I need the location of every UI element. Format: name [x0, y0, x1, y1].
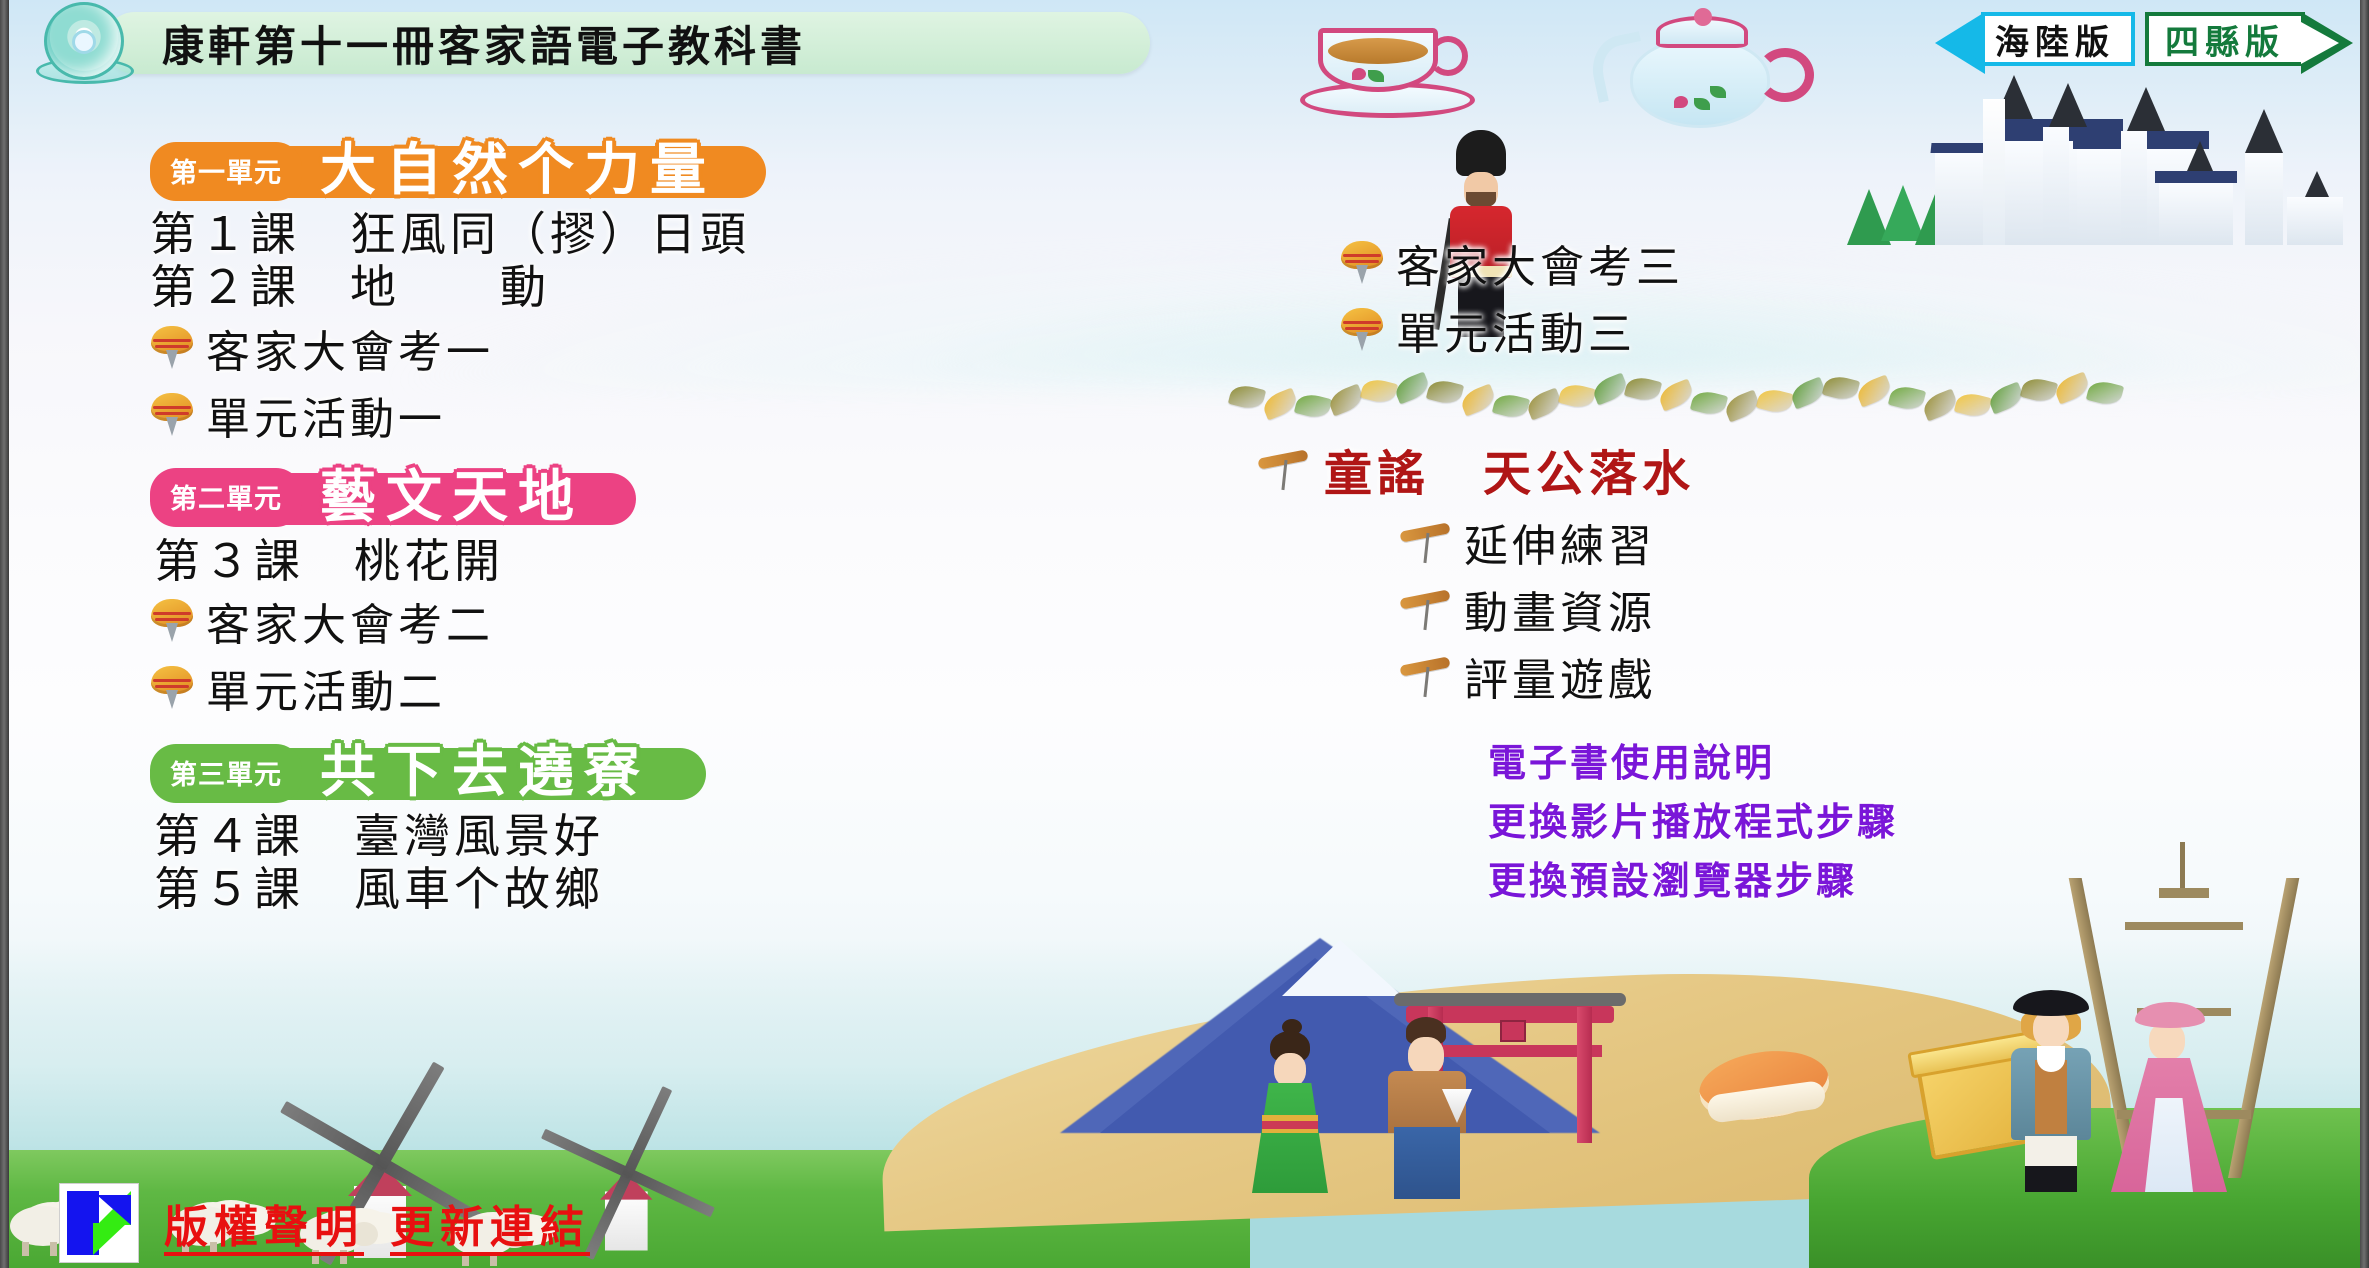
french-man-illustration [2003, 990, 2099, 1190]
page-title: 康軒第十一冊客家語電子教科書 [104, 12, 1150, 74]
help-link-video-player[interactable]: 更換影片播放程式步驟 [1488, 791, 2180, 846]
leaf-icon [1392, 371, 1432, 404]
unit-title-2: 藝文天地 [320, 470, 584, 526]
title-banner: 康軒第十一冊客家語電子教科書 [30, 8, 1150, 78]
resource-label: 延伸練習 [1464, 510, 1656, 574]
spinning-top-icon [150, 324, 194, 372]
leaf-icon [1326, 383, 1366, 416]
teacup-illustration [1300, 20, 1485, 125]
unit-heading-3[interactable]: 第三單元 共下去遶寮 [150, 738, 1170, 808]
lesson-item[interactable]: 第４課 臺灣風景好 [150, 812, 1170, 861]
teapot-illustration [1590, 8, 1820, 138]
leaf-icon [1756, 387, 1794, 417]
page-title-text: 康軒第十一冊客家語電子教科書 [162, 13, 806, 74]
unit-activity-item[interactable]: 單元活動三 [1340, 298, 2180, 362]
update-link[interactable]: 更新連結 [390, 1191, 590, 1255]
help-links: 電子書使用說明 更換影片播放程式步驟 更換預設瀏覽器步驟 [1488, 732, 2180, 905]
leaf-icon [1426, 377, 1464, 407]
song-heading-label: 童謠 天公落水 [1324, 434, 1695, 504]
mount-fuji-snowcap [1282, 940, 1402, 996]
bamboo-dragonfly-icon [1258, 446, 1310, 492]
leaf-icon [1590, 373, 1630, 406]
spinning-top-icon [1340, 306, 1384, 354]
bamboo-dragonfly-icon [1400, 519, 1452, 565]
version-switcher: 海陸版 四縣版 [1935, 10, 2353, 68]
leaf-icon [1920, 388, 1960, 421]
leaf-icon [1228, 382, 1266, 412]
leaf-icon [1260, 388, 1300, 421]
windmill-illustration-2 [585, 1128, 724, 1251]
footer-bar: 版權聲明 更新連結 [60, 1184, 590, 1262]
leaf-icon [1888, 384, 1926, 414]
copyright-link[interactable]: 版權聲明 [164, 1191, 364, 1255]
lesson-item[interactable]: 第１課 狂風同（摎）日頭 [150, 210, 1170, 259]
unit-activity-label: 客家大會考三 [1396, 231, 1684, 295]
castle-illustration [1847, 60, 2347, 245]
spinning-top-icon [150, 597, 194, 645]
unit-activity-label: 單元活動二 [206, 656, 446, 720]
spinning-top-icon [150, 664, 194, 712]
leaf-icon [1558, 382, 1596, 412]
unit-title-1: 大自然个力量 [320, 143, 716, 199]
unit-activity-label: 客家大會考一 [206, 316, 494, 380]
leaf-icon [1822, 373, 1860, 403]
unit-activity-label: 單元活動三 [1396, 298, 1636, 362]
window-frame-right [2360, 0, 2369, 1268]
bamboo-dragonfly-icon [1400, 586, 1452, 632]
version-next-label: 四縣版 [2165, 15, 2285, 64]
unit-heading-1[interactable]: 第一單元 大自然个力量 [150, 136, 1170, 206]
leaf-icon [2052, 372, 2092, 405]
unit-activity-item[interactable]: 客家大會考一 [150, 316, 1170, 380]
unit-activity-label: 單元活動一 [206, 383, 446, 447]
version-prev-button[interactable]: 海陸版 [1981, 12, 2135, 66]
help-link-default-browser[interactable]: 更換預設瀏覽器步驟 [1488, 850, 2180, 905]
kanghsuan-k-logo [60, 1184, 138, 1262]
leaf-icon [1954, 390, 1992, 420]
unit-activity-item[interactable]: 客家大會考三 [1340, 231, 2180, 295]
app-stage: 康軒第十一冊客家語電子教科書 海陸版 四縣版 第一單元 大自然个力量 第１課 狂… [0, 0, 2369, 1268]
leaf-icon [2086, 378, 2124, 408]
unit-badge-3: 第三單元 [150, 744, 302, 803]
unit-activity-label: 客家大會考二 [206, 589, 494, 653]
compact-disc-icon [30, 0, 140, 86]
resource-item[interactable]: 延伸練習 [1400, 510, 2180, 574]
french-woman-illustration [2109, 1002, 2229, 1192]
unit-activity-item[interactable]: 單元活動二 [150, 656, 1170, 720]
unit-title-3: 共下去遶寮 [320, 745, 650, 801]
resource-label: 評量遊戲 [1464, 644, 1656, 708]
kimono-woman-illustration [1248, 1023, 1332, 1193]
help-link-manual[interactable]: 電子書使用說明 [1488, 732, 2180, 787]
resource-item[interactable]: 評量遊戲 [1400, 644, 2180, 708]
lesson-item[interactable]: 第３課 桃花開 [150, 537, 1170, 586]
unit-activity-item[interactable]: 客家大會考二 [150, 589, 1170, 653]
unit-activity-item[interactable]: 單元活動一 [150, 383, 1170, 447]
leaf-icon [1986, 382, 2026, 415]
bamboo-dragonfly-icon [1400, 653, 1452, 699]
lesson-item[interactable]: 第２課 地 動 [150, 263, 1170, 312]
unit-heading-2[interactable]: 第二單元 藝文天地 [150, 463, 1170, 533]
spinning-top-icon [1340, 239, 1384, 287]
leaf-icon [1492, 391, 1530, 421]
version-prev-label: 海陸版 [1995, 15, 2115, 64]
leaf-icon [1690, 388, 1728, 418]
song-heading[interactable]: 童謠 天公落水 [1258, 434, 2180, 504]
resource-label: 動畫資源 [1464, 577, 1656, 641]
leaf-icon [1524, 387, 1564, 420]
spinning-top-icon [150, 391, 194, 439]
unit-badge-2: 第二單元 [150, 468, 302, 527]
toc-left-column: 第一單元 大自然个力量 第１課 狂風同（摎）日頭 第２課 地 動 客家大會考一 … [150, 130, 1170, 918]
unit-badge-1: 第一單元 [150, 142, 302, 201]
window-frame-left [0, 0, 9, 1268]
leaf-icon [1360, 377, 1398, 407]
kimono-man-illustration [1380, 1013, 1472, 1198]
leaf-divider [1230, 374, 2130, 420]
leaf-icon [2020, 376, 2058, 406]
leaf-icon [1624, 374, 1662, 404]
version-next-button[interactable]: 四縣版 [2145, 12, 2305, 66]
lesson-item[interactable]: 第５課 風車个故鄉 [150, 865, 1170, 914]
leaf-icon [1294, 391, 1332, 421]
toc-right-column: 客家大會考三 單元活動三 童謠 天公落水 延伸練習 動畫資源 [1230, 228, 2180, 909]
resource-item[interactable]: 動畫資源 [1400, 577, 2180, 641]
